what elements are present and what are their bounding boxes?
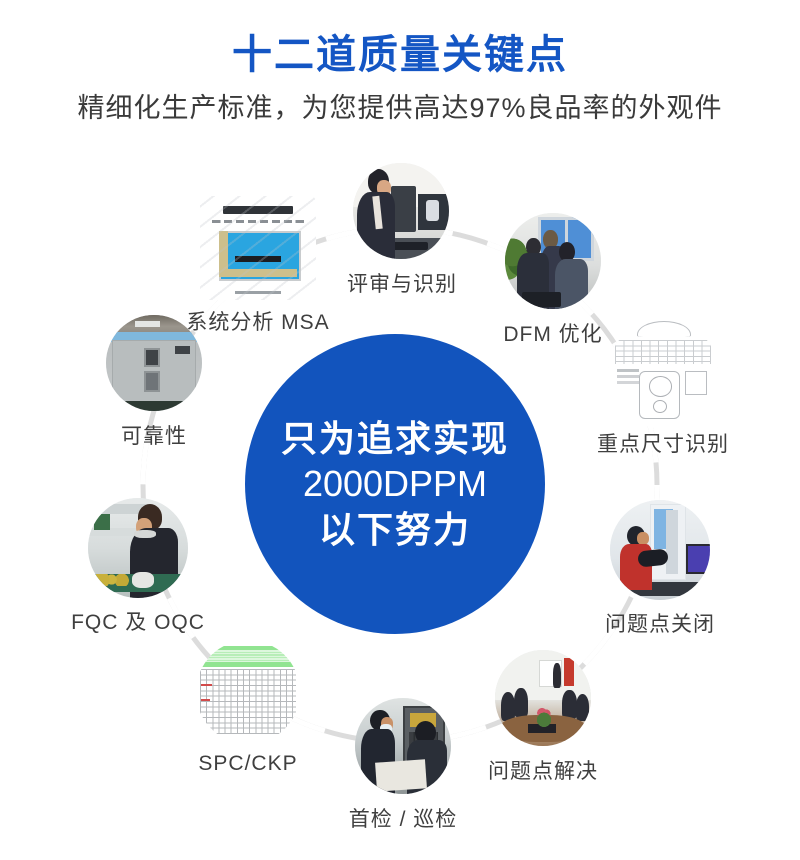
cnc-inspection-photo	[355, 698, 451, 794]
center-line-1: 只为追求实现	[281, 416, 509, 461]
node-review-label: 评审与识别	[347, 268, 455, 298]
infographic-canvas: 十二道质量关键点 精细化生产标准，为您提供高达97%良品率的外观件 只为追求实现…	[0, 0, 800, 860]
meeting-room-photo	[495, 650, 591, 746]
node-issue-solve[interactable]: 问题点解决	[495, 650, 591, 746]
test-report-document	[200, 196, 316, 300]
node-key-dimension-label: 重点尺寸识别	[590, 428, 736, 458]
node-msa-label: 系统分析 MSA	[168, 306, 348, 336]
node-dfm[interactable]: DFM 优化	[505, 213, 601, 309]
node-reliability-label: 可靠性	[106, 420, 202, 450]
node-first-patrol[interactable]: 首检 / 巡检	[355, 698, 451, 794]
node-spc-ckp[interactable]: SPC/CKP	[196, 640, 300, 744]
node-fqc-oqc[interactable]: FQC 及 OQC	[88, 498, 188, 598]
node-spc-ckp-label: SPC/CKP	[186, 752, 310, 776]
person-at-computer-photo	[353, 163, 449, 259]
node-issue-close-label: 问题点关闭	[598, 608, 722, 638]
node-dfm-label: DFM 优化	[503, 318, 603, 348]
cmm-operator-photo	[610, 500, 710, 600]
technical-drawing-image	[608, 318, 718, 428]
node-key-dimension[interactable]: 重点尺寸识别	[608, 318, 718, 428]
center-goal-circle: 只为追求实现 2000DPPM 以下努力	[245, 334, 545, 634]
node-msa[interactable]: 系统分析 MSA	[200, 196, 316, 300]
node-fqc-oqc-label: FQC 及 OQC	[60, 606, 216, 636]
node-issue-close[interactable]: 问题点关闭	[610, 500, 710, 600]
node-first-patrol-label: 首检 / 巡检	[339, 803, 467, 833]
node-review[interactable]: 评审与识别	[353, 163, 449, 259]
inspector-worker-photo	[88, 498, 188, 598]
spreadsheet-chart-image	[196, 640, 300, 744]
center-line-3: 以下努力	[319, 507, 471, 552]
node-issue-solve-label: 问题点解决	[483, 755, 603, 785]
center-line-2: 2000DPPM	[303, 461, 487, 506]
team-at-laptops-photo	[505, 213, 601, 309]
